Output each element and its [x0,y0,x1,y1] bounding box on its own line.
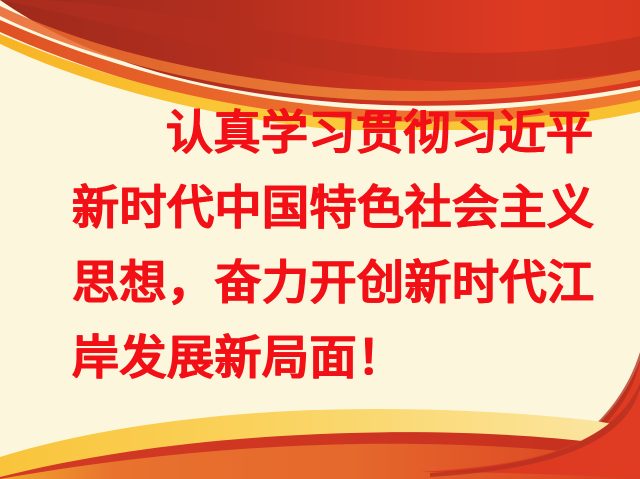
bottom-orange-mass [0,444,640,479]
poster-canvas: 认真学习贯彻习近平 新时代中国特色社会主义 思想，奋力开创新时代江 岸发展新局面… [0,0,640,479]
top-red-mass [0,0,640,106]
top-orange-ribbon-2 [0,6,640,101]
bottom-red-band [0,432,640,479]
poster-text-block: 认真学习贯彻习近平 新时代中国特色社会主义 思想，奋力开创新时代江 岸发展新局面… [0,96,640,396]
poster-line-1: 认真学习贯彻习近平 [72,96,578,171]
poster-line-2: 新时代中国特色社会主义 [72,171,578,246]
poster-line-4: 岸发展新局面！ [72,321,578,396]
bottom-right-red-sweep [420,389,640,479]
top-inner-swirl [0,0,640,82]
bottom-yellow-band [0,409,640,479]
bottom-right-dark-edge [430,383,640,477]
poster-line-3: 思想，奋力开创新时代江 [72,246,578,321]
